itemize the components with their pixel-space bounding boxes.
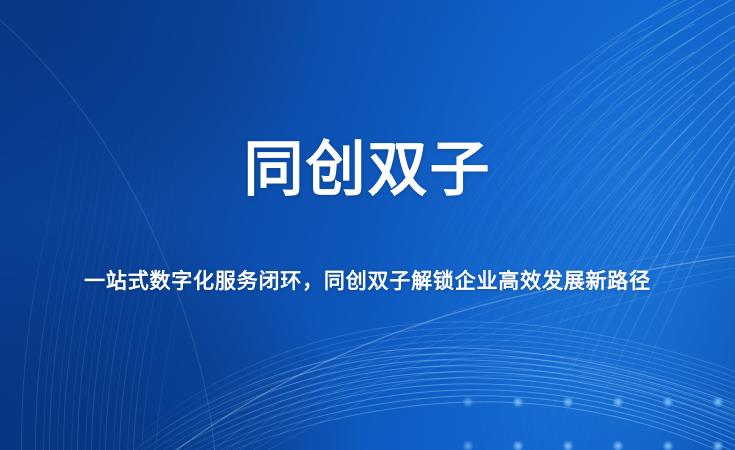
dot-row-lower — [462, 440, 724, 450]
dot-row-upper — [462, 396, 724, 408]
title-block: 同创双子 — [0, 138, 735, 203]
right-glow — [355, 0, 735, 450]
promo-banner: 同创双子 一站式数字化服务闭环，同创双子解锁企业高效发展新路径 — [0, 0, 735, 450]
subtitle-block: 一站式数字化服务闭环，同创双子解锁企业高效发展新路径 — [0, 269, 735, 294]
bottom-left-shadow — [0, 210, 360, 450]
bottom-right-glow — [385, 210, 735, 450]
banner-title: 同创双子 — [0, 138, 735, 203]
dot-row-decoration — [0, 0, 735, 450]
wave-lines-decoration — [0, 0, 735, 450]
banner-subtitle: 一站式数字化服务闭环，同创双子解锁企业高效发展新路径 — [0, 269, 735, 294]
